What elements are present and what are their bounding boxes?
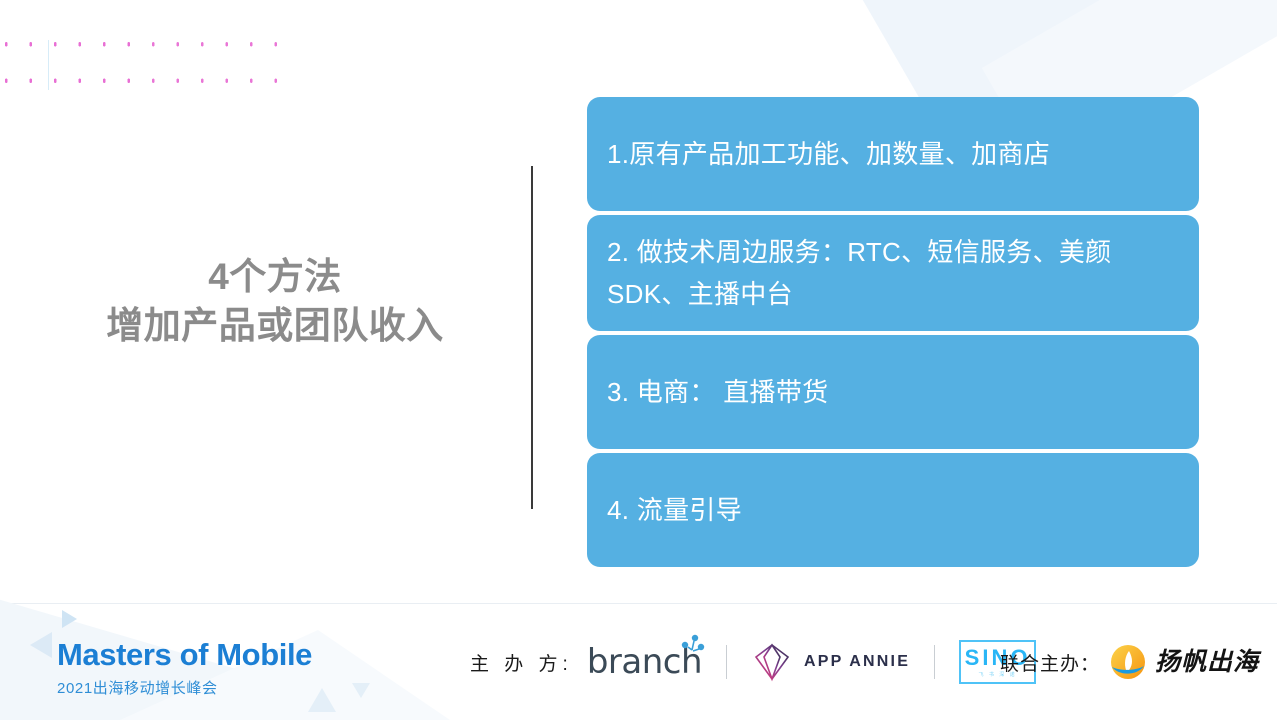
yangfan-logo[interactable]: 扬帆出海 <box>1110 644 1259 680</box>
method-card-2-text: 2. 做技术周边服务：RTC、短信服务、美颜SDK、主播中台 <box>607 231 1179 315</box>
method-card-list: 1.原有产品加工功能、加数量、加商店 2. 做技术周边服务：RTC、短信服务、美… <box>587 97 1199 571</box>
sponsor-divider-1 <box>726 645 727 679</box>
triangle-up-icon <box>308 688 336 712</box>
host-label: 主 办 方: <box>470 649 573 676</box>
sailboat-icon <box>1110 644 1146 680</box>
method-card-1[interactable]: 1.原有产品加工功能、加数量、加商店 <box>587 97 1199 211</box>
method-card-2[interactable]: 2. 做技术周边服务：RTC、短信服务、美颜SDK、主播中台 <box>587 215 1199 331</box>
method-card-4-text: 4. 流量引导 <box>607 489 1179 531</box>
vertical-divider <box>531 166 533 509</box>
sponsor-divider-2 <box>934 645 935 679</box>
dot-grid-top-left-dense <box>0 26 150 102</box>
coorganizer-row: 联合主办： 扬帆出海 <box>1000 604 1259 720</box>
diamond-icon <box>751 641 793 683</box>
event-brand-title: Masters of Mobile <box>57 639 312 670</box>
coorganizer-label: 联合主办： <box>1000 649 1100 676</box>
page-title: 4个方法 增加产品或团队收入 <box>40 252 510 350</box>
thin-vertical-accent-line <box>48 40 49 90</box>
app-annie-text: APP ANNIE <box>804 653 910 671</box>
branch-logo[interactable]: branch <box>587 645 702 679</box>
branch-sprout-icon <box>676 633 706 675</box>
method-card-3[interactable]: 3. 电商： 直播带货 <box>587 335 1199 449</box>
event-brand-subtitle: 2021出海移动增长峰会 <box>57 677 312 698</box>
method-card-1-text: 1.原有产品加工功能、加数量、加商店 <box>607 133 1179 175</box>
triangle-left-icon <box>30 632 52 658</box>
sponsor-row: 主 办 方: branch <box>470 604 1036 720</box>
event-brand: Masters of Mobile 2021出海移动增长峰会 <box>57 639 312 698</box>
yangfan-logo-text: 扬帆出海 <box>1155 650 1259 675</box>
slide-root: 4个方法 增加产品或团队收入 1.原有产品加工功能、加数量、加商店 2. 做技术… <box>0 0 1277 720</box>
method-card-3-text: 3. 电商： 直播带货 <box>607 371 1179 413</box>
method-card-4[interactable]: 4. 流量引导 <box>587 453 1199 567</box>
footer-bar: Masters of Mobile 2021出海移动增长峰会 主 办 方: br… <box>0 603 1277 720</box>
dot-grid-top-left <box>0 26 294 102</box>
app-annie-logo[interactable]: APP ANNIE <box>751 641 910 683</box>
triangle-right-icon <box>62 610 77 628</box>
triangle-down-icon <box>352 683 370 698</box>
